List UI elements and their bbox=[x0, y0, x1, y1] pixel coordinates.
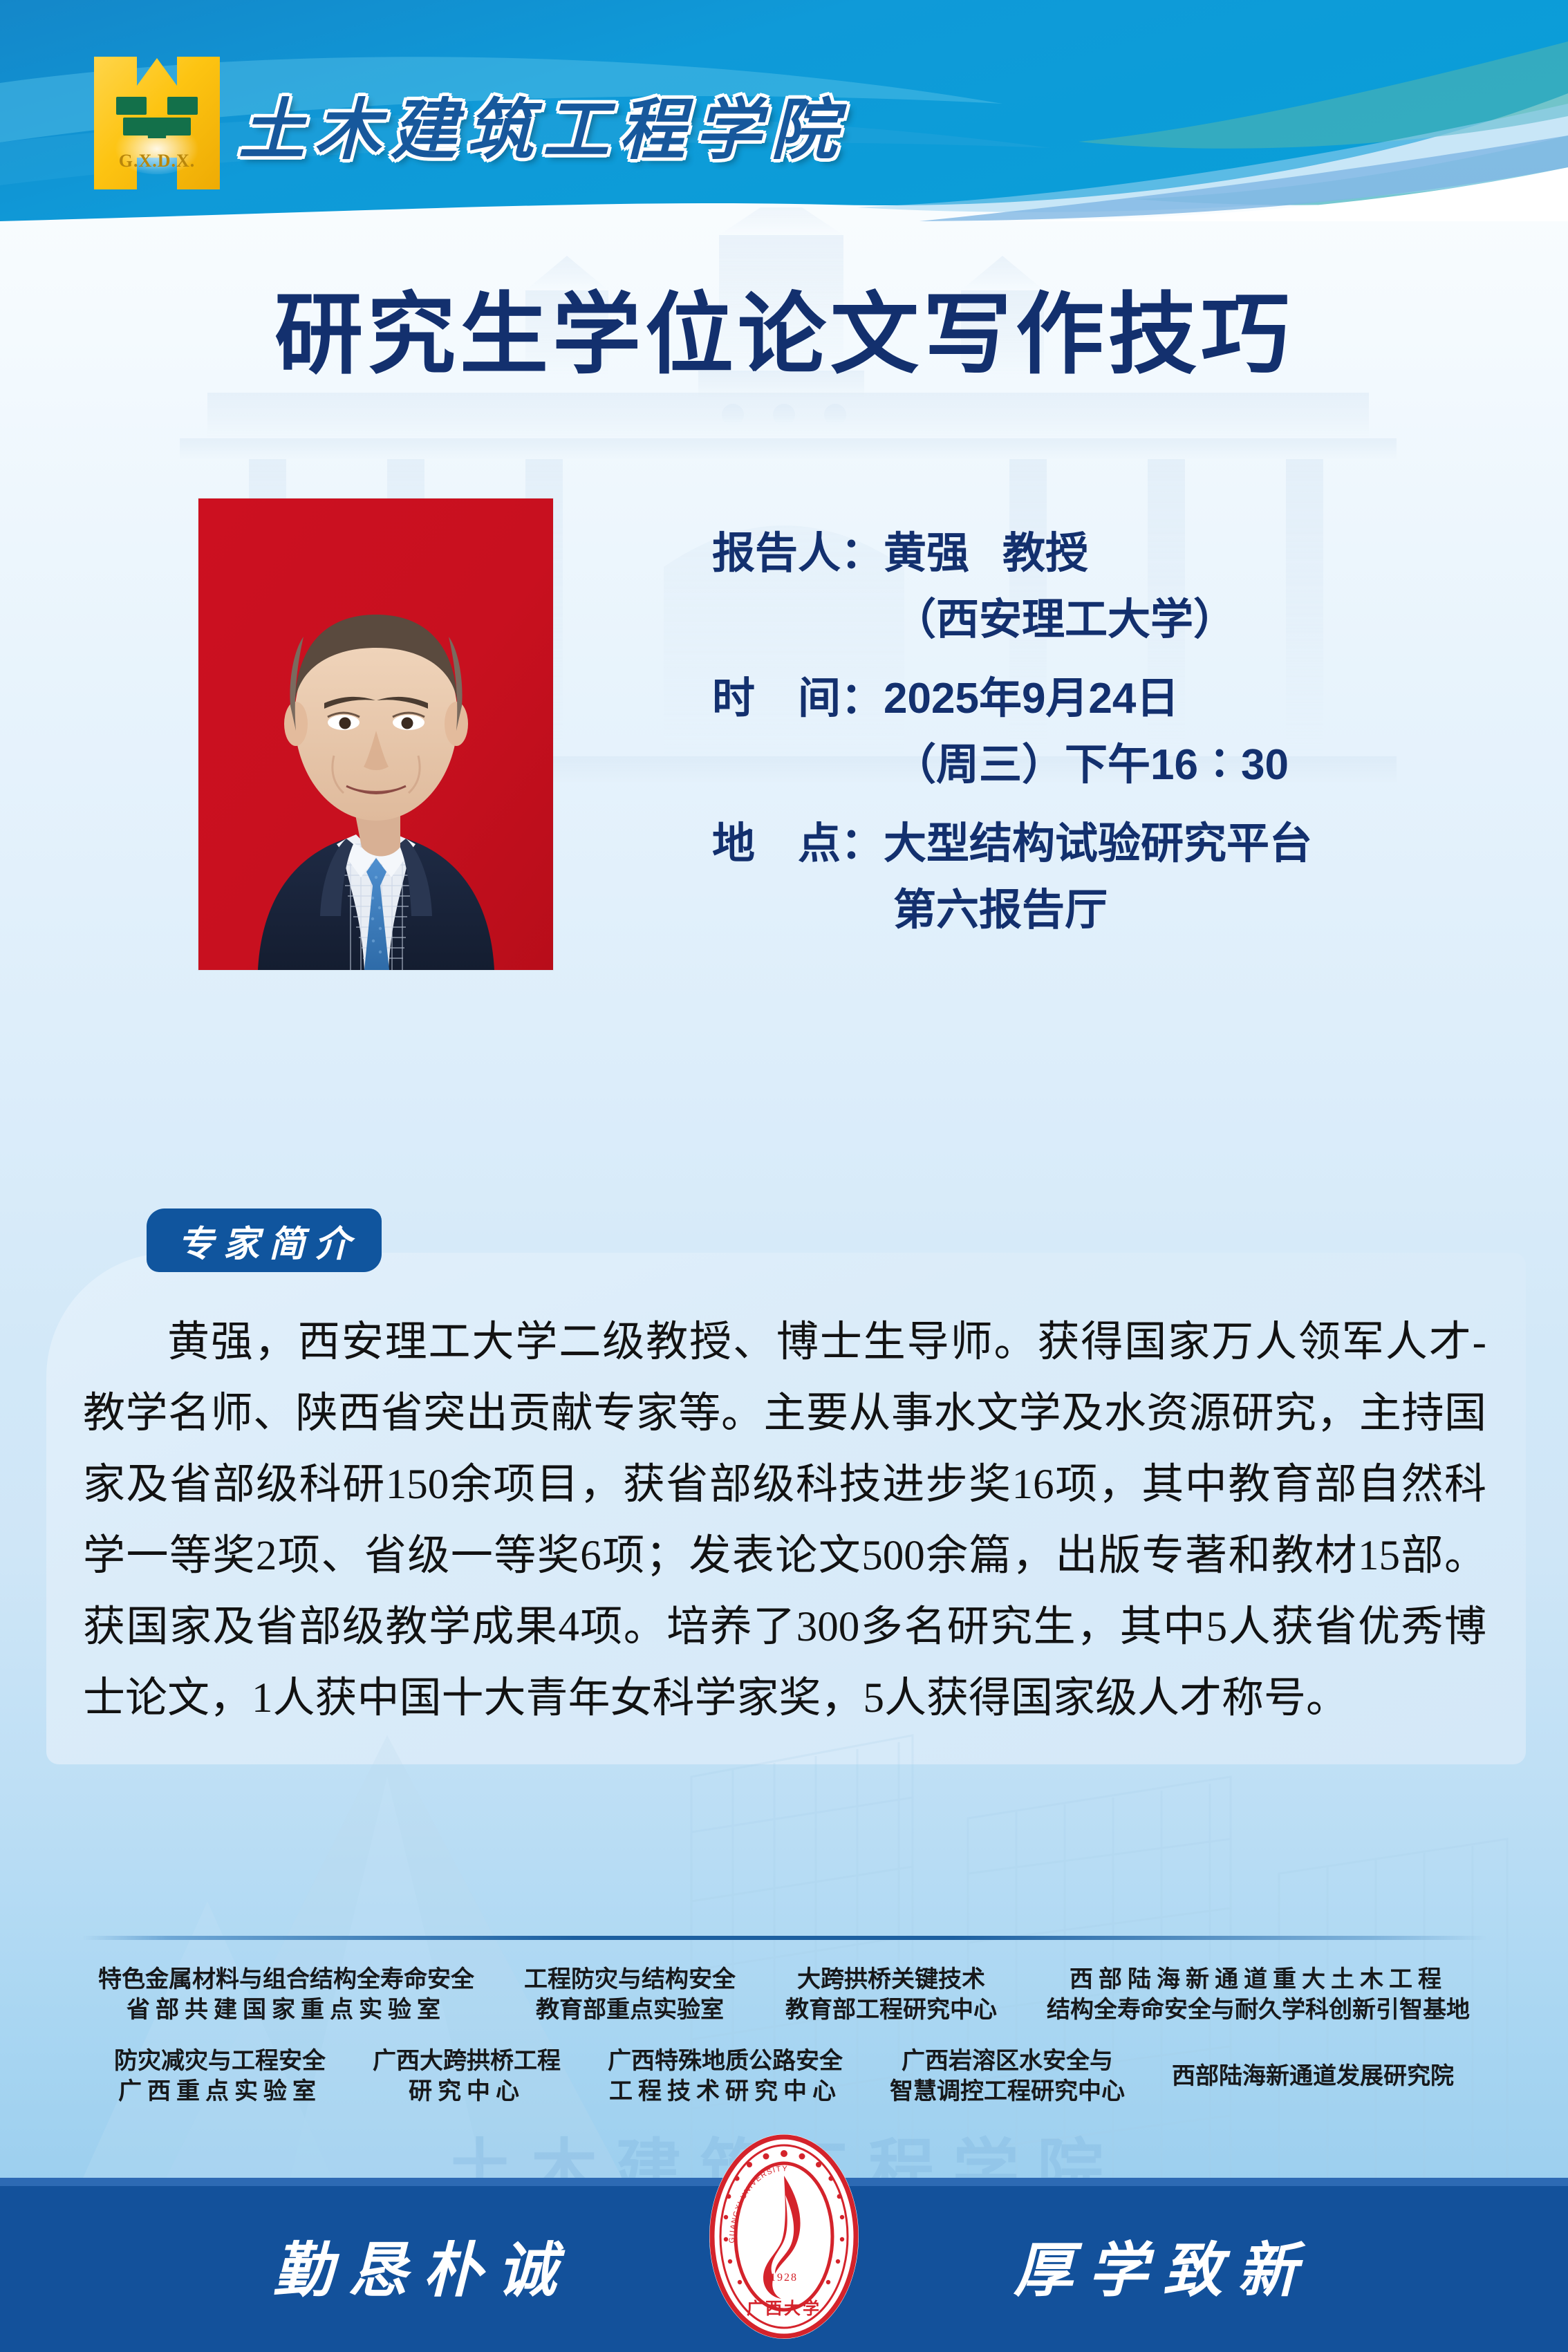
bio-badge-label: 专家简介 bbox=[168, 1215, 360, 1267]
lab-item: 工程防灾与结构安全 教育部重点实验室 bbox=[524, 1965, 736, 2026]
lab-item: 西部陆海新通道发展研究院 bbox=[1172, 2046, 1454, 2092]
time-value: 2025年9月24日 bbox=[884, 675, 1179, 722]
lab-line-1: 防灾减灾与工程安全 bbox=[114, 2046, 326, 2077]
speaker-photo bbox=[198, 498, 553, 970]
lab-line-1: 广西大跨拱桥工程 bbox=[373, 2046, 561, 2077]
portrait-illustration bbox=[198, 498, 553, 970]
header-banner: G.X.D.X. 土木建筑工程学院 bbox=[0, 0, 1568, 221]
lab-line-2: 教育部工程研究中心 bbox=[785, 1995, 997, 2026]
lab-line-2: 省部共建国家重点实验室 bbox=[98, 1995, 474, 2026]
place-value: 大型结构试验研究平台 bbox=[884, 820, 1312, 868]
page-title: 研究生学位论文写作技巧 bbox=[0, 263, 1568, 391]
lab-line-2: 教育部重点实验室 bbox=[524, 1995, 736, 2026]
lab-item: 广西特殊地质公路安全 工程技术研究中心 bbox=[608, 2046, 843, 2107]
place-label: 地 点： bbox=[712, 820, 884, 868]
time-detail-row: （周三）下午16∶30 bbox=[712, 744, 1507, 787]
speaker-row: 报告人：黄强教授 bbox=[712, 532, 1507, 575]
bio-section-badge: 专家简介 bbox=[147, 1208, 382, 1272]
lab-item: 西部陆海新通道重大土木工程 结构全寿命安全与耐久学科创新引智基地 bbox=[1047, 1965, 1470, 2026]
place-row: 地 点：大型结构试验研究平台 bbox=[712, 823, 1507, 866]
affiliated-labs: 特色金属材料与组合结构全寿命安全 省部共建国家重点实验室 工程防灾与结构安全 教… bbox=[0, 1915, 1568, 2122]
lab-item: 防灾减灾与工程安全 广西重点实验室 bbox=[114, 2046, 326, 2107]
seal-year: 1928 bbox=[770, 2272, 798, 2284]
time-label: 时 间： bbox=[712, 675, 884, 722]
seal-chinese-name: 广西大学 bbox=[747, 2299, 821, 2318]
lab-line-2: 广西重点实验室 bbox=[114, 2077, 326, 2107]
gxdx-shield-logo: G.X.D.X. bbox=[88, 54, 225, 192]
place-detail-row: 第六报告厅 bbox=[712, 889, 1507, 932]
poster-canvas: G.X.D.X. 土木建筑工程学院 研究生学位论文写作技巧 bbox=[0, 0, 1568, 2352]
speaker-name: 黄强 bbox=[884, 530, 969, 577]
lab-line-1: 广西特殊地质公路安全 bbox=[608, 2046, 843, 2077]
labs-row-1: 特色金属材料与组合结构全寿命安全 省部共建国家重点实验室 工程防灾与结构安全 教… bbox=[0, 1965, 1568, 2026]
motto-left: 勤恳朴诚 bbox=[273, 2222, 572, 2308]
organization-name: 土木建筑工程学院 bbox=[239, 76, 847, 172]
lab-line-2: 研究中心 bbox=[373, 2077, 561, 2107]
bio-paragraph: 黄强，西安理工大学二级教授、博士生导师。获得国家万人领军人才-教学名师、陕西省突… bbox=[83, 1307, 1486, 1734]
divider-rule bbox=[83, 1936, 1486, 1940]
lab-item: 广西岩溶区水安全与 智慧调控工程研究中心 bbox=[890, 2046, 1125, 2107]
guangxi-university-seal: 1928 广西大学 GUANGXI UNIVERSITY bbox=[708, 2133, 860, 2340]
lab-line-1: 广西岩溶区水安全与 bbox=[890, 2046, 1125, 2077]
lab-line-2: 结构全寿命安全与耐久学科创新引智基地 bbox=[1047, 1995, 1470, 2026]
lab-line-1: 西部陆海新通道发展研究院 bbox=[1172, 2062, 1454, 2092]
lab-item: 广西大跨拱桥工程 研究中心 bbox=[373, 2046, 561, 2107]
lab-line-1: 特色金属材料与组合结构全寿命安全 bbox=[98, 1965, 474, 1995]
event-info-block: 报告人：黄强教授 （西安理工大学） 时 间：2025年9月24日 （周三）下午1… bbox=[712, 532, 1507, 932]
lab-line-1: 工程防灾与结构安全 bbox=[524, 1965, 736, 1995]
speaker-affiliation-row: （西安理工大学） bbox=[712, 599, 1507, 642]
lab-line-2: 工程技术研究中心 bbox=[608, 2077, 843, 2107]
speaker-rank: 教授 bbox=[1002, 530, 1088, 577]
lab-item: 大跨拱桥关键技术 教育部工程研究中心 bbox=[785, 1965, 997, 2026]
lab-line-2: 智慧调控工程研究中心 bbox=[890, 2077, 1125, 2107]
logo-abbreviation: G.X.D.X. bbox=[119, 151, 196, 171]
labs-row-2: 防灾减灾与工程安全 广西重点实验室 广西大跨拱桥工程 研究中心 广西特殊地质公路… bbox=[0, 2046, 1568, 2107]
lab-line-1: 大跨拱桥关键技术 bbox=[785, 1965, 997, 1995]
lab-item: 特色金属材料与组合结构全寿命安全 省部共建国家重点实验室 bbox=[98, 1965, 474, 2026]
lab-line-1: 西部陆海新通道重大土木工程 bbox=[1047, 1965, 1470, 1995]
time-row: 时 间：2025年9月24日 bbox=[712, 678, 1507, 720]
motto-right: 厚学致新 bbox=[1014, 2222, 1312, 2308]
speaker-label: 报告人： bbox=[712, 530, 884, 577]
